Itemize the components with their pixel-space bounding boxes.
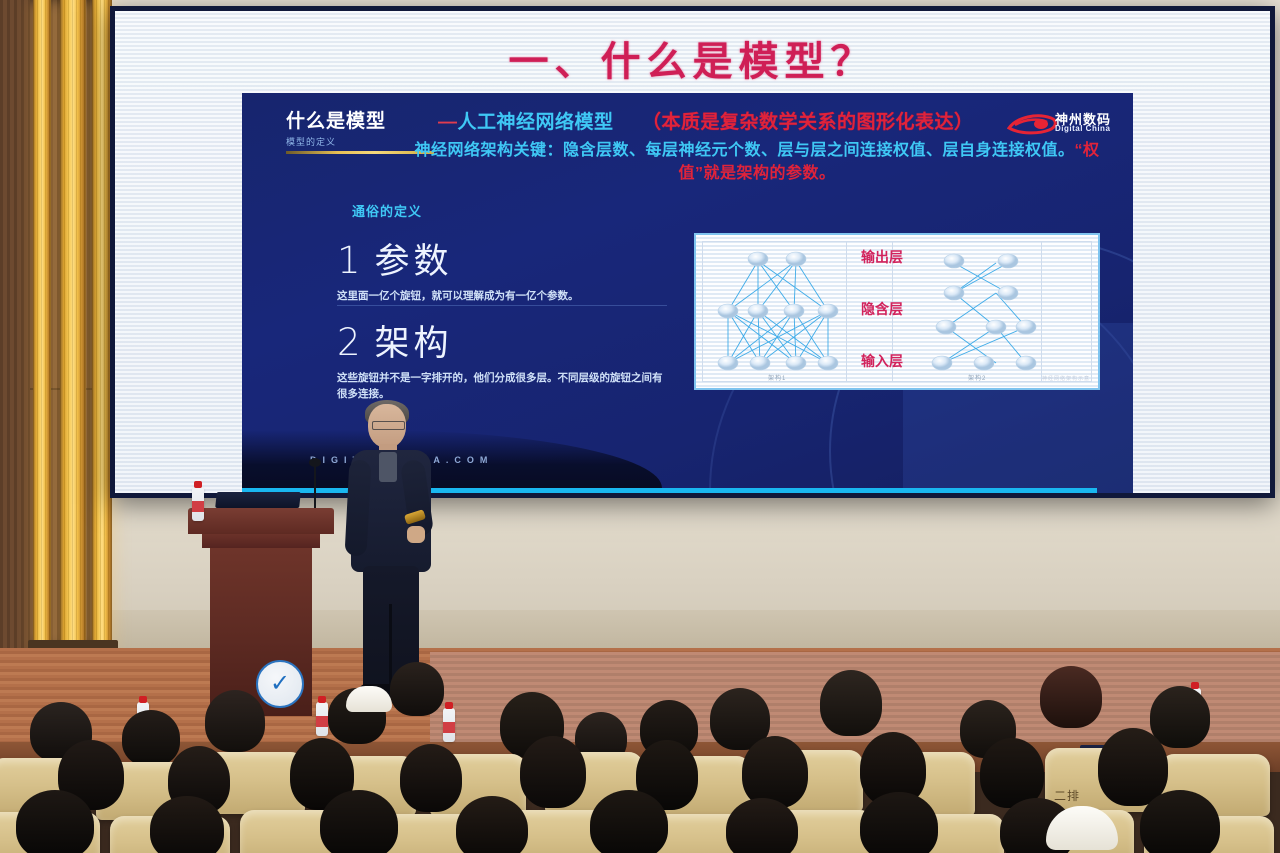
water-bottle-on-table [192,487,204,521]
popular-definition-label: 通俗的定义 [352,201,422,220]
glasses-icon [372,421,405,430]
projection-screen: 一、什么是模型？ 什么是模型 模型的定义 —人工神经网络模型 （本质是复杂数学关… [110,6,1275,498]
point-1-number: 1 [337,239,363,282]
diagram-caption-2: 架构2 [968,373,986,382]
diagram-label-output: 输出层 [861,247,903,267]
audience-head [16,790,94,853]
point-2-word: 架构 [375,324,453,363]
audience-head [1150,686,1210,748]
slide-headline-cyan: —人工神经网络模型 [438,107,614,134]
audience-head [456,796,528,853]
podium-neck [202,534,320,548]
point-1-caption: 这里面一亿个旋钮，就可以理解成为有一亿个参数。 [337,288,579,304]
audience-head [860,792,938,853]
logo-en-text: Digital China [1055,124,1110,133]
screen-surface: 一、什么是模型？ 什么是模型 模型的定义 —人工神经网络模型 （本质是复杂数学关… [115,11,1270,493]
diagram-label-hidden: 隐含层 [861,299,903,319]
audience-head [726,798,798,853]
digital-china-logo: 神州数码 Digital China [1007,109,1127,139]
slide-body-text: 神经网络架构关键：隐含层数、每层神经元个数、层与层之间连接权值、层自身连接权值。… [407,139,1107,185]
diagram-caption-1: 架构1 [768,373,786,382]
body-cyan-text: 神经网络架构关键：隐含层数、每层神经元个数、层与层之间连接权值、层自身连接权值。 [414,142,1074,159]
white-cap [346,686,392,712]
podium-top [188,508,334,534]
audience-head [150,796,224,853]
audience-area: 二排 二排 二排 [0,640,1280,853]
left-wood-paneling-dark [0,0,30,648]
point-1-word: 参数 [375,242,453,281]
audience-head [820,670,882,736]
podium-laptop [215,492,301,508]
swoosh-logo-icon [1007,111,1059,135]
audience-head [400,744,462,812]
slide-header-title: 什么是模型 [286,106,434,133]
audience-head [122,710,180,766]
neural-network-diagram: 输出层 隐含层 输入层 架构1 架构2 神经网络架构示意 [694,233,1100,390]
diagram-watermark: 神经网络架构示意 [1042,375,1090,382]
audience-head [205,690,265,752]
point-2-number: 2 [337,321,363,364]
amber-light-column-3 [92,0,112,652]
headline-dash: — [438,112,458,133]
diagram-label-input: 输入层 [861,351,903,371]
amber-light-column-1 [33,0,51,652]
amber-light-column-2 [60,0,86,652]
audience-head [320,790,398,853]
audience-head [1098,728,1168,806]
points-divider [337,305,667,306]
slide-headline-red: （本质是复杂数学关系的图形化表达） [642,107,974,134]
microphone-icon [309,458,321,467]
microphone-stand [314,464,316,512]
audience-head [1140,790,1220,853]
seat-row-tag: 二排 [1054,787,1080,804]
page-title: 一、什么是模型？ [115,29,1270,87]
point-2-caption: 这些旋钮并不是一字排开的，他们分成很多层。不同层级的旋钮之间有很多连接。 [337,370,667,402]
slide-point-2: 2架构 这些旋钮并不是一字排开的，他们分成很多层。不同层级的旋钮之间有很多连接。 [337,315,667,402]
audience-head [390,662,444,716]
headline-cyan-text: 人工神经网络模型 [458,112,614,133]
presenter-collar [379,452,397,482]
presenter-hand [407,526,425,543]
audience-head [742,736,808,808]
audience-head [590,790,668,853]
audience-head [1040,666,1102,728]
audience-head [520,736,586,808]
lecture-hall-photo: 一、什么是模型？ 什么是模型 模型的定义 —人工神经网络模型 （本质是复杂数学关… [0,0,1280,853]
slide-point-1: 1参数 这里面一亿个旋钮，就可以理解成为有一亿个参数。 [337,233,579,304]
